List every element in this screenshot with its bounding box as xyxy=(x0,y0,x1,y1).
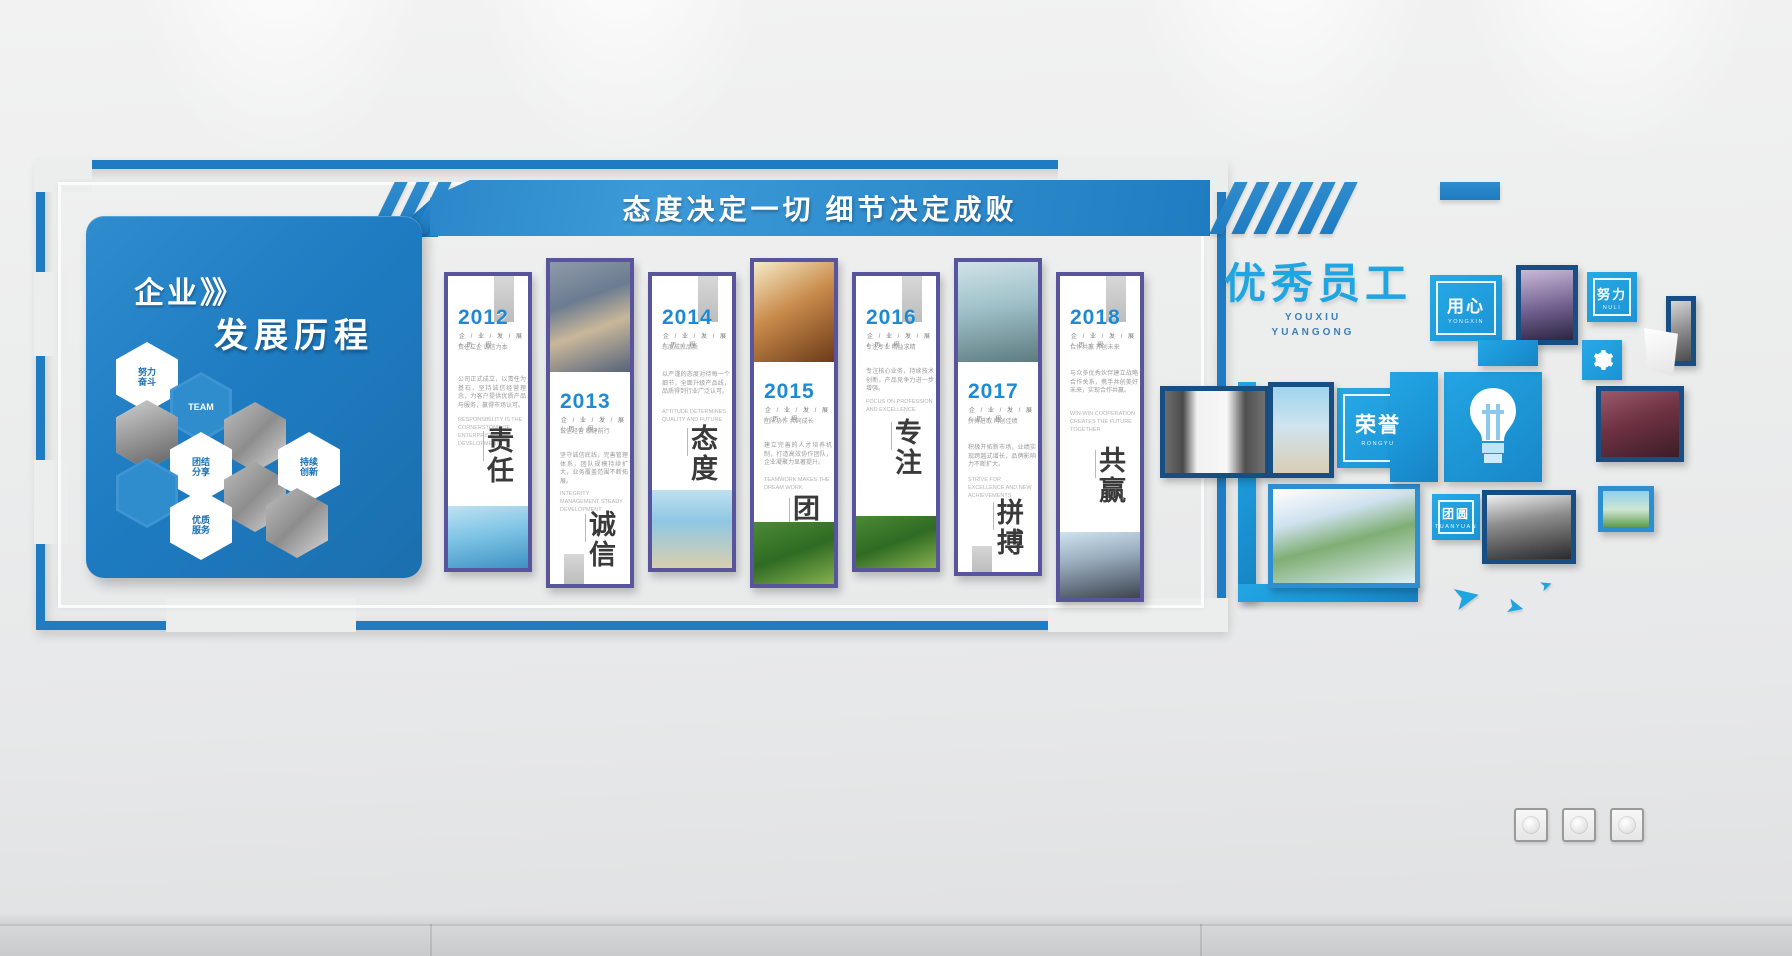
panel-year: 2016 xyxy=(866,306,917,330)
timeline-panel[interactable]: 2018 企 / 业 / 发 / 展 / 历 / 程 合作共赢 开创未来 与众多… xyxy=(1056,272,1144,602)
panel-heading: 责任立企 诚信为本 xyxy=(458,344,524,353)
hex-label: 优质服务 xyxy=(189,515,213,535)
panel-tab xyxy=(564,554,584,584)
card-title-line1: 企业》》 xyxy=(134,268,239,312)
panel-year: 2017 xyxy=(968,380,1019,404)
floor xyxy=(0,924,1792,956)
panel-body-en: TEAMWORK MAKES THE DREAM WORK xyxy=(764,476,832,492)
blue-block-above-bulb xyxy=(1478,340,1538,366)
panel-body: 公司正式成立，以责任为基石，坚持诚信经营理念，为客户提供优质产品与服务，赢得市场… xyxy=(458,376,526,410)
panel-body-en: STRIVE FOR EXCELLENCE AND NEW ACHIEVEMEN… xyxy=(968,476,1036,500)
hex-badge-photo-1 xyxy=(224,402,286,472)
panel-heading: 态度成就品质 xyxy=(662,344,730,353)
stripes-right xyxy=(1222,182,1345,234)
hex-label: TEAM xyxy=(185,402,217,412)
bird-icon: ➤ xyxy=(1504,594,1527,620)
panel-body: 坚守诚信底线，完善管理体系，团队规模持续扩大，业务覆盖范围不断拓展。 xyxy=(560,452,628,486)
panel-photo xyxy=(958,262,1038,362)
panel-keyword: 专注 xyxy=(887,418,926,478)
panel-heading: 诚信经营 稳健前行 xyxy=(560,428,628,437)
switch-rocker-icon xyxy=(1570,816,1588,834)
switch-rocker-icon xyxy=(1522,816,1540,834)
panel-keyword: 拼搏 xyxy=(989,498,1028,558)
panel-body: 与众多优秀伙伴建立战略合作关系，携手共创美好未来，实现合作共赢。 xyxy=(1070,370,1138,396)
hex-badge-youzhi: 优质服务 xyxy=(170,490,232,560)
bird-icon: ➤ xyxy=(1538,576,1555,594)
paper-accent xyxy=(1644,328,1678,376)
label-tile-py: NULI xyxy=(1603,305,1622,311)
photo-frame-curtain[interactable] xyxy=(1160,386,1270,478)
lightbulb-panel xyxy=(1444,372,1542,482)
ceiling-light-wash xyxy=(1130,0,1430,160)
panel-year: 2012 xyxy=(458,306,509,330)
hex-badge-empty xyxy=(116,458,178,528)
stripe-tail xyxy=(1440,182,1500,200)
panel-year: 2013 xyxy=(560,390,611,414)
panel-body: 以严谨的态度对待每一个细节，全面升级产品线，品质得到行业广泛认可。 xyxy=(662,371,730,397)
employee-section-title: 优秀员工 xyxy=(1224,250,1412,311)
panel-year: 2015 xyxy=(764,380,815,404)
bird-icon: ➤ xyxy=(1449,577,1484,616)
timeline-panel[interactable]: 2013 企 / 业 / 发 / 展 / 历 / 程 诚信经营 稳健前行 坚守诚… xyxy=(546,258,634,588)
panel-year: 2014 xyxy=(662,306,713,330)
hex-label: 团结分享 xyxy=(189,457,213,477)
label-tile-tuanyuan[interactable]: 团圆 TUANYUAN xyxy=(1432,494,1480,540)
chevron-right-icon: 》》 xyxy=(200,277,239,310)
photo-frame-bw-building[interactable] xyxy=(1482,490,1576,564)
hex-badge-team: TEAM xyxy=(170,372,232,442)
photo-frame-red-architecture[interactable] xyxy=(1596,386,1684,462)
panel-heading: 拼搏进取 再创佳绩 xyxy=(968,418,1036,427)
hex-label: 持续创新 xyxy=(297,457,321,477)
wall-scene: 态度决定一切 细节决定成败 企业》》 发展历程 努力奋斗 TEAM 团结分享 持… xyxy=(0,0,1792,956)
panel-keyword: 共赢 xyxy=(1091,446,1130,506)
floor-seam xyxy=(430,924,432,956)
panel-photo xyxy=(652,490,732,568)
panel-body: 专注核心业务，持续技术创新，产品竞争力进一步增强。 xyxy=(866,368,934,394)
card-title-text: 企业 xyxy=(134,277,200,310)
timeline-panel[interactable]: 2012 企 / 业 / 发 / 展 / 历 / 程 责任立企 诚信为本 公司正… xyxy=(444,272,532,572)
pinyin-line-2: YUANGONG xyxy=(1272,327,1355,338)
panel-year: 2018 xyxy=(1070,306,1121,330)
panel-body-en: FOCUS ON PROFESSION AND EXCELLENCE xyxy=(866,398,934,414)
panel-heading: 专注专业 精益求精 xyxy=(866,344,934,353)
panel-keyword: 态度 xyxy=(683,424,722,484)
label-tile-py: TUANYUAN xyxy=(1435,524,1477,530)
photo-frame-purple-tower[interactable] xyxy=(1516,265,1578,345)
employee-section-pinyin: YOUXIU YUANGONG xyxy=(1238,310,1388,340)
hexagon-cluster: 努力奋斗 TEAM 团结分享 持续创新 优质服务 xyxy=(110,338,410,573)
panel-body-en: WIN-WIN COOPERATION CREATES THE FUTURE T… xyxy=(1070,410,1138,434)
photo-frame-beach-umbrella[interactable] xyxy=(1268,382,1334,478)
timeline-panel[interactable]: 2017 企 / 业 / 发 / 展 / 历 / 程 拼搏进取 再创佳绩 积极开… xyxy=(954,258,1042,576)
gear-icon xyxy=(1590,348,1614,372)
panel-photo xyxy=(754,522,834,584)
ceiling-light-wash xyxy=(130,0,430,160)
headline-slogan: 态度决定一切 细节决定成败 xyxy=(622,188,1017,228)
ceiling-light-wash xyxy=(1460,0,1760,160)
panel-body: 建立完善的人才培养机制，打造高效协作团队，企业凝聚力显著提升。 xyxy=(764,442,832,468)
timeline-panel[interactable]: 2016 企 / 业 / 发 / 展 / 历 / 程 专注专业 精益求精 专注核… xyxy=(852,272,940,572)
lightbulb-icon xyxy=(1465,386,1521,472)
gear-badge[interactable] xyxy=(1582,340,1622,380)
pinyin-line-1: YOUXIU xyxy=(1285,312,1341,323)
panel-photo xyxy=(448,506,528,568)
label-tile-py: RONGYU xyxy=(1361,441,1394,447)
label-tile-nuli[interactable]: 努力 NULI xyxy=(1587,272,1637,322)
panel-tab xyxy=(972,546,992,572)
switch-rocker-icon xyxy=(1618,816,1636,834)
timeline-panel[interactable]: 2015 企 / 业 / 发 / 展 / 历 / 程 团队协作 共同成长 建立完… xyxy=(750,258,838,588)
label-tile-py: YONGXIN xyxy=(1448,319,1484,325)
photo-frame-snow[interactable] xyxy=(1268,484,1420,588)
hex-label: 努力奋斗 xyxy=(135,367,159,387)
panel-photo xyxy=(1060,532,1140,598)
label-tile-cn: 努力 xyxy=(1597,284,1627,303)
panel-heading: 合作共赢 开创未来 xyxy=(1070,344,1138,353)
photo-frame-tropical-beach[interactable] xyxy=(1598,486,1654,532)
panel-keyword: 诚信 xyxy=(581,510,620,570)
panel-keyword: 责任 xyxy=(479,426,518,486)
floor-seam xyxy=(1200,924,1202,956)
headline-banner: 态度决定一切 细节决定成败 xyxy=(430,180,1210,236)
panel-photo xyxy=(550,262,630,372)
label-tile-cn: 荣誉 xyxy=(1355,409,1401,439)
hex-badge-chixu: 持续创新 xyxy=(278,432,340,502)
panel-photo xyxy=(754,262,834,362)
panel-heading: 团队协作 共同成长 xyxy=(764,418,832,427)
floor-edge xyxy=(0,914,1792,924)
timeline-panel[interactable]: 2014 企 / 业 / 发 / 展 / 历 / 程 态度成就品质 以严谨的态度… xyxy=(648,272,736,572)
light-switch[interactable] xyxy=(1514,808,1548,842)
panel-body-en: ATTITUDE DETERMINES QUALITY AND FUTURE xyxy=(662,408,730,424)
panel-body: 积极开拓新市场，业绩实现跨越式增长，品牌影响力不断扩大。 xyxy=(968,444,1036,470)
label-tile-yongxin[interactable]: 用心 YONGXIN xyxy=(1430,275,1502,341)
label-tile-cn: 用心 xyxy=(1447,292,1485,317)
light-switch[interactable] xyxy=(1562,808,1596,842)
label-tile-cn: 团圆 xyxy=(1442,505,1470,522)
panel-photo xyxy=(856,516,936,568)
ceiling-light-wash xyxy=(470,0,770,160)
company-history-card: 企业》》 发展历程 努力奋斗 TEAM 团结分享 持续创新 优质服务 xyxy=(86,216,422,578)
light-switch[interactable] xyxy=(1610,808,1644,842)
